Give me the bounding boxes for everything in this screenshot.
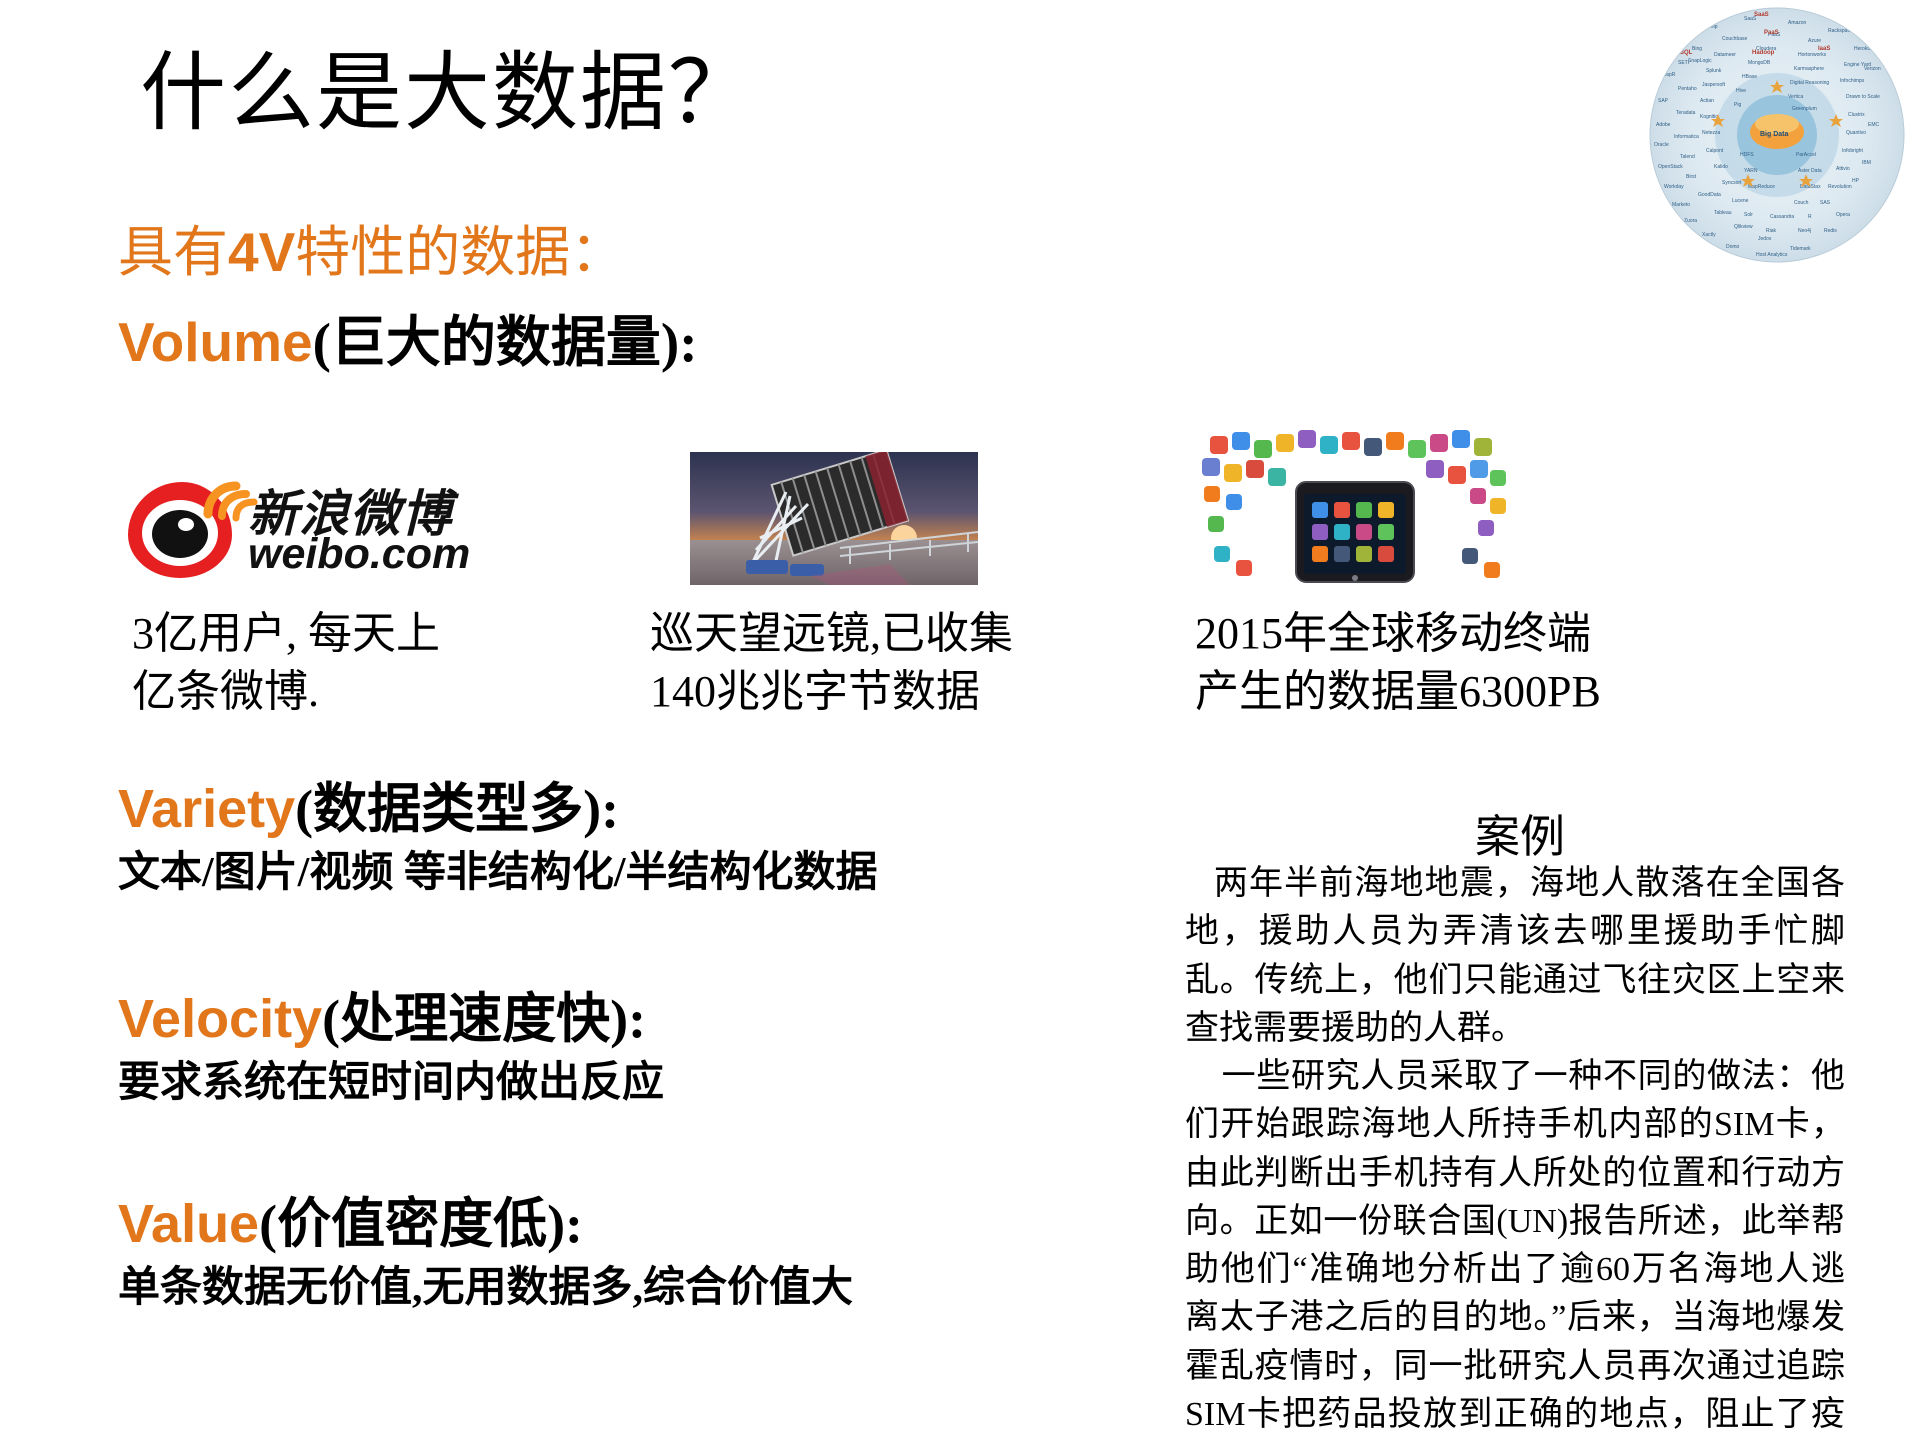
svg-text:R: R xyxy=(1808,214,1812,220)
svg-text:Teradata: Teradata xyxy=(1676,110,1696,116)
svg-text:PaaS: PaaS xyxy=(1764,30,1779,36)
section-heading-variety: Variety(数据类型多): xyxy=(118,780,878,839)
caption-weibo: 3亿用户, 每天上 亿条微博. xyxy=(132,605,602,721)
section-sub-velocity: 要求系统在短时间内做出反应 xyxy=(118,1057,664,1110)
svg-text:HP: HP xyxy=(1852,178,1860,184)
telescope-photo xyxy=(690,452,978,585)
case-study-title: 案例 xyxy=(1200,800,1840,865)
svg-text:Calpont: Calpont xyxy=(1706,148,1724,154)
svg-text:Talend: Talend xyxy=(1680,154,1695,160)
svg-text:Infochimps: Infochimps xyxy=(1840,78,1865,84)
svg-text:HDFS: HDFS xyxy=(1740,152,1754,158)
heading-4v-emphasis: 4V xyxy=(228,221,295,283)
svg-text:MongoDB: MongoDB xyxy=(1748,60,1771,66)
svg-text:Aster Data: Aster Data xyxy=(1798,168,1822,174)
svg-text:Oracle: Oracle xyxy=(1654,142,1669,148)
caption-telescope: 巡天望远镜,已收集 140兆兆字节数据 xyxy=(650,605,1150,721)
svg-text:SnapLogic: SnapLogic xyxy=(1688,58,1712,64)
svg-text:Marketo: Marketo xyxy=(1672,202,1690,208)
svg-text:Bing: Bing xyxy=(1692,46,1702,52)
svg-text:Syncsort: Syncsort xyxy=(1722,180,1742,186)
svg-text:Hortonworks: Hortonworks xyxy=(1798,52,1827,58)
svg-text:Couchbase: Couchbase xyxy=(1722,36,1748,42)
svg-text:Tableau: Tableau xyxy=(1714,210,1732,216)
velocity-key-label: Velocity xyxy=(118,989,322,1049)
mobile-apps-photo xyxy=(1200,430,1510,590)
svg-text:Netezza: Netezza xyxy=(1702,130,1721,136)
section-sub-variety: 文本/图片/视频 等非结构化/半结构化数据 xyxy=(118,847,878,900)
slide-canvas: 什么是大数据？ 具有4V特性的数据： Volume(巨大的数据量): 新浪微博 … xyxy=(0,0,1920,1440)
svg-text:Qlikview: Qlikview xyxy=(1734,224,1753,230)
svg-text:Karmasphere: Karmasphere xyxy=(1794,66,1824,72)
svg-text:Adobe: Adobe xyxy=(1656,122,1671,128)
svg-text:Clustrix: Clustrix xyxy=(1848,112,1865,118)
svg-text:Quantivo: Quantivo xyxy=(1846,130,1866,136)
svg-text:Big Data: Big Data xyxy=(1760,131,1789,138)
section-heading-volume: Volume(巨大的数据量): xyxy=(118,312,698,374)
svg-text:Redis: Redis xyxy=(1824,228,1837,234)
svg-text:Hadoop: Hadoop xyxy=(1752,50,1775,56)
svg-text:ParAccel: ParAccel xyxy=(1796,152,1816,158)
value-rest-label: (价值密度低): xyxy=(259,1194,583,1254)
svg-text:Lucene: Lucene xyxy=(1732,198,1749,204)
page-title: 什么是大数据？ xyxy=(140,48,756,138)
value-key-label: Value xyxy=(118,1194,259,1254)
svg-text:Domo: Domo xyxy=(1726,244,1740,250)
section-velocity: Velocity(处理速度快): 要求系统在短时间内做出反应 xyxy=(118,990,664,1110)
section-value: Value(价值密度低): 单条数据无价值,无用数据多,综合价值大 xyxy=(118,1195,853,1315)
svg-text:Riak: Riak xyxy=(1766,228,1777,234)
svg-text:Greenplum: Greenplum xyxy=(1792,106,1817,112)
svg-text:HBase: HBase xyxy=(1742,74,1757,80)
svg-text:Pig: Pig xyxy=(1734,102,1741,108)
svg-text:IaaS: IaaS xyxy=(1818,46,1830,52)
svg-text:OpenStack: OpenStack xyxy=(1658,164,1683,170)
svg-text:SAP: SAP xyxy=(1658,98,1669,104)
svg-text:YARN: YARN xyxy=(1744,168,1758,174)
svg-text:Azure: Azure xyxy=(1808,38,1821,44)
svg-text:Splunk: Splunk xyxy=(1706,68,1722,74)
svg-text:Attivio: Attivio xyxy=(1836,166,1850,172)
svg-text:Pentaho: Pentaho xyxy=(1678,86,1697,92)
heading-4v-prefix: 具有 xyxy=(118,222,228,283)
svg-text:Tidemark: Tidemark xyxy=(1790,246,1811,252)
svg-text:Opera: Opera xyxy=(1836,212,1850,218)
velocity-rest-label: (处理速度快): xyxy=(322,989,646,1049)
svg-text:Jedox: Jedox xyxy=(1758,236,1772,242)
svg-text:Couch: Couch xyxy=(1794,200,1809,206)
heading-4v-suffix: 特性的数据： xyxy=(295,222,625,283)
section-heading-velocity: Velocity(处理速度快): xyxy=(118,990,664,1049)
svg-text:Drawn to Scale: Drawn to Scale xyxy=(1846,94,1880,100)
svg-text:Birst: Birst xyxy=(1686,174,1697,180)
svg-text:Infobright: Infobright xyxy=(1842,148,1863,154)
weibo-logo-url-text: weibo.com xyxy=(248,530,470,579)
weibo-pupil xyxy=(152,510,208,558)
heading-4v-characteristics: 具有4V特性的数据： xyxy=(118,222,625,284)
svg-text:Datameer: Datameer xyxy=(1714,52,1736,58)
section-variety: Variety(数据类型多): 文本/图片/视频 等非结构化/半结构化数据 xyxy=(118,780,878,900)
case-study-body: 两年半前海地地震，海地人散落在全国各地，援助人员为弄清该去哪里援助手忙脚乱。传统… xyxy=(1185,860,1845,1440)
variety-rest-label: (数据类型多): xyxy=(295,779,619,839)
svg-text:SETI: SETI xyxy=(1678,60,1689,66)
volume-key-label: Volume xyxy=(118,311,313,373)
svg-text:Kalido: Kalido xyxy=(1714,164,1728,170)
section-sub-value: 单条数据无价值,无用数据多,综合价值大 xyxy=(118,1262,853,1315)
svg-text:Xactly: Xactly xyxy=(1702,232,1716,238)
svg-text:SAS: SAS xyxy=(1820,200,1831,206)
svg-text:Jaspersoft: Jaspersoft xyxy=(1702,82,1726,88)
svg-text:Hive: Hive xyxy=(1736,88,1746,94)
caption-mobile: 2015年全球移动终端 产生的数据量6300PB xyxy=(1195,605,1715,721)
section-heading-value: Value(价值密度低): xyxy=(118,1195,853,1254)
svg-text:Revolution: Revolution xyxy=(1828,184,1852,190)
weibo-logo: 新浪微博 weibo.com xyxy=(128,468,468,586)
svg-text:Solr: Solr xyxy=(1744,212,1753,218)
svg-text:Workday: Workday xyxy=(1664,184,1684,190)
svg-text:Neo4j: Neo4j xyxy=(1798,228,1811,234)
svg-text:IBM: IBM xyxy=(1862,160,1871,166)
svg-text:EMC: EMC xyxy=(1868,122,1880,128)
svg-text:Cassandra: Cassandra xyxy=(1770,214,1794,220)
svg-text:Digital Reasoning: Digital Reasoning xyxy=(1790,80,1829,86)
svg-text:Actian: Actian xyxy=(1700,98,1714,104)
bigdata-wordcloud-image: PingdomYelp SaaSAmazon RackspaceHeroku M… xyxy=(1648,6,1906,264)
svg-text:Informatica: Informatica xyxy=(1674,134,1699,140)
svg-text:Verizon: Verizon xyxy=(1864,66,1881,72)
svg-text:GoodData: GoodData xyxy=(1698,192,1721,198)
svg-text:Amazon: Amazon xyxy=(1788,20,1807,26)
weibo-glint xyxy=(178,518,194,531)
svg-text:Vertica: Vertica xyxy=(1788,94,1804,100)
svg-text:Host Analytics: Host Analytics xyxy=(1756,252,1788,258)
variety-key-label: Variety xyxy=(118,779,295,839)
svg-text:SaaS: SaaS xyxy=(1754,12,1769,18)
volume-rest-label: (巨大的数据量): xyxy=(313,312,698,373)
